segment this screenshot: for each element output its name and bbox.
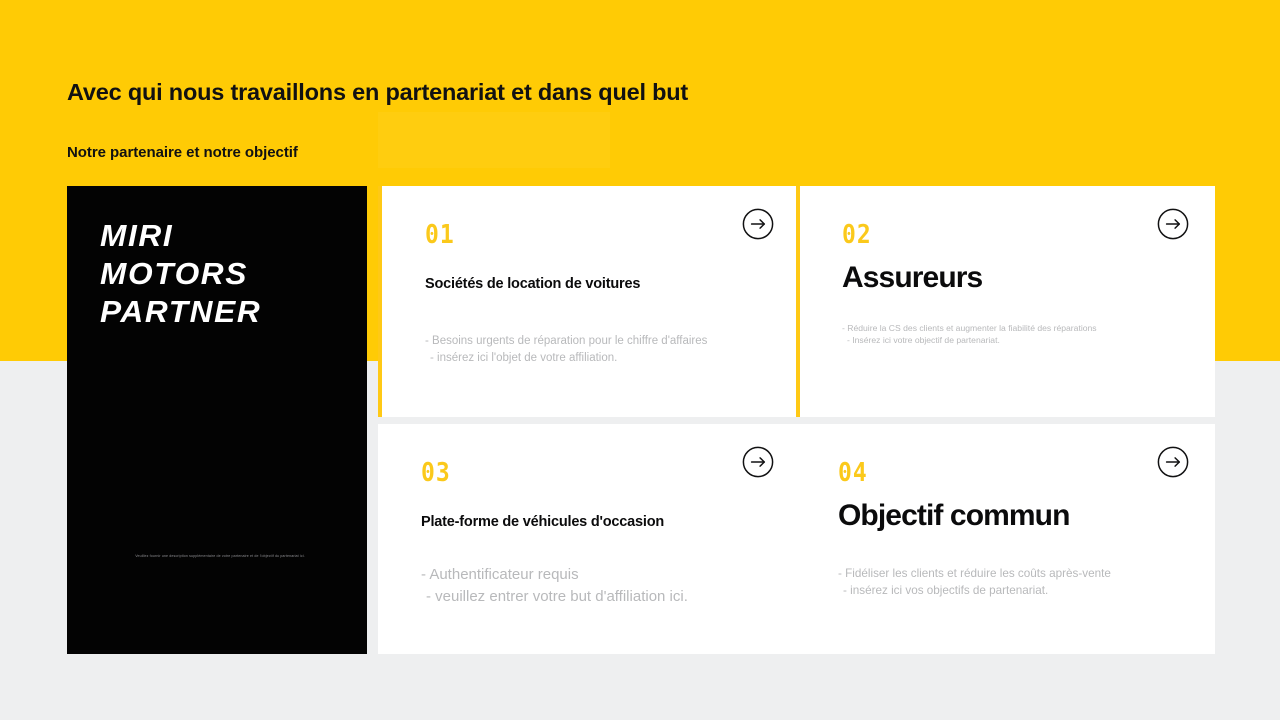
page-heading-group: Avec qui nous travaillons en partenariat… [67, 78, 827, 163]
card-title-04: Objectif commun [838, 498, 1070, 534]
card-number-01: 01 [425, 223, 455, 249]
partnership-board: MIRI MOTORS PARTNER Veuillez fournir une… [67, 186, 1214, 654]
card-body-04-line-2: - insérez ici vos objectifs de partenari… [838, 583, 1198, 600]
card-title-01: Sociétés de location de voitures [425, 276, 640, 293]
partner-card-03[interactable]: 03 Plate-forme de véhicules d'occasion -… [378, 424, 800, 654]
card-body-03-line-2: - veuillez entrer votre but d'affiliatio… [421, 586, 781, 608]
card-number-04: 04 [838, 461, 868, 487]
page-subtitle: Notre partenaire et notre objectif [67, 143, 827, 163]
card-body-01-line-2: - insérez ici l'objet de votre affiliati… [425, 350, 785, 367]
card-title-02: Assureurs [842, 260, 982, 296]
card-body-01-line-1: - Besoins urgents de réparation pour le … [425, 335, 707, 347]
card-body-02: - Réduire la CS des clients et augmenter… [842, 322, 1202, 347]
arrow-right-circle-icon[interactable] [1157, 208, 1189, 240]
partner-card-02[interactable]: 02 Assureurs - Réduire la CS des clients… [796, 186, 1215, 417]
card-body-03: - Authentificateur requis - veuillez ent… [421, 564, 781, 608]
card-body-04: - Fidéliser les clients et réduire les c… [838, 566, 1198, 600]
arrow-right-circle-icon[interactable] [1157, 446, 1189, 478]
brand-logo: MIRI MOTORS PARTNER [100, 217, 350, 331]
partner-card-04[interactable]: 04 Objectif commun - Fidéliser les clien… [796, 424, 1215, 654]
partner-card-01[interactable]: 01 Sociétés de location de voitures - Be… [378, 186, 800, 417]
card-body-02-line-1: - Réduire la CS des clients et augmenter… [842, 323, 1097, 333]
brand-panel-note: Veuillez fournir une description supplém… [95, 554, 345, 559]
brand-panel: MIRI MOTORS PARTNER Veuillez fournir une… [67, 186, 367, 654]
card-body-02-line-2: - Insérez ici votre objectif de partenar… [842, 334, 1202, 346]
brand-logo-line-1: MIRI [100, 217, 355, 255]
card-body-03-line-1: - Authentificateur requis [421, 566, 579, 583]
brand-logo-line-2: MOTORS [100, 255, 355, 293]
card-number-03: 03 [421, 461, 451, 487]
card-body-04-line-1: - Fidéliser les clients et réduire les c… [838, 567, 1111, 580]
brand-logo-line-3: PARTNER [100, 293, 355, 331]
arrow-right-circle-icon[interactable] [742, 446, 774, 478]
card-body-01: - Besoins urgents de réparation pour le … [425, 333, 785, 366]
card-title-03: Plate-forme de véhicules d'occasion [421, 514, 664, 531]
arrow-right-circle-icon[interactable] [742, 208, 774, 240]
card-number-02: 02 [842, 223, 872, 249]
page-title: Avec qui nous travaillons en partenariat… [67, 78, 827, 107]
